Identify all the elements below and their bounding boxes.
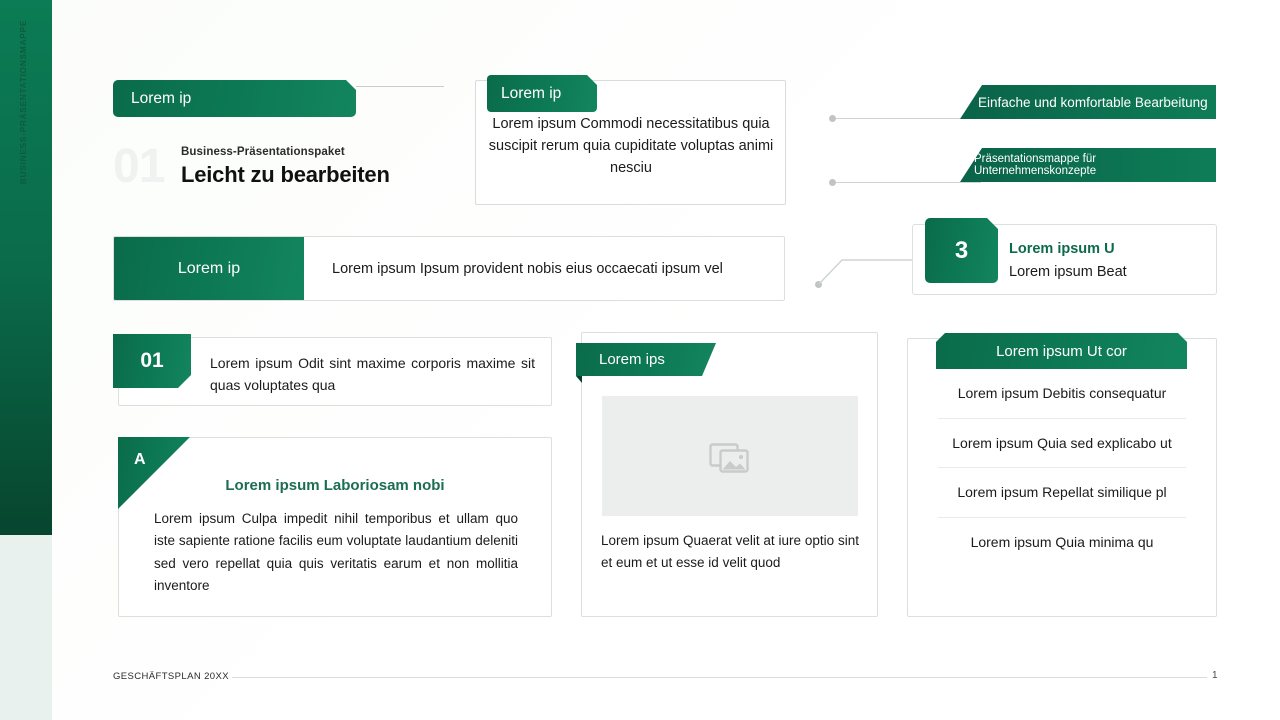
split-bar: Lorem ip Lorem ipsum Ipsum provident nob… [113,236,785,301]
split-bar-left-label: Lorem ip [114,237,304,300]
banner-2-connector-dot [829,179,836,186]
angled-banner-2-label: Präsentationsmappe für Unternehmenskonze… [974,153,1216,177]
image-card-ribbon[interactable]: Lorem ips [576,343,716,376]
list-panel-items: Lorem ipsum Debitis consequatur Lorem ip… [938,369,1186,567]
number-card-badge: 3 [925,218,998,283]
banner-2-connector-line [836,182,981,183]
lettered-card-a-badge: A [134,451,146,469]
list-panel-ribbon-label: Lorem ipsum Ut cor [996,343,1127,360]
angled-banner-2[interactable]: Präsentationsmappe für Unternehmenskonze… [960,148,1216,182]
header-tab-connector-line [356,86,444,87]
image-placeholder[interactable] [602,396,858,516]
angled-banner-1-label: Einfache und komfortable Bearbeitung [978,95,1208,110]
header-tab-banner[interactable]: Lorem ip [113,80,356,117]
header-index-number: 01 [113,143,164,191]
list-item[interactable]: Lorem ipsum Debitis consequatur [938,369,1186,419]
image-card-ribbon-label: Lorem ips [599,351,665,368]
angled-banner-1[interactable]: Einfache und komfortable Bearbeitung [960,85,1216,119]
center-card-body: Lorem ipsum Commodi necessitatibus quia … [487,113,775,179]
footer-rule [232,677,1207,678]
center-card-tab-label: Lorem ip [501,85,561,103]
numbered-card-01-badge: 01 [113,334,191,388]
list-item[interactable]: Lorem ipsum Quia minima qu [938,518,1186,568]
number-card-subtitle: Lorem ipsum Beat [1009,264,1127,280]
slide-canvas: BUSINESS-PRÄSENTATIONSMAPPE Lorem ip 01 … [0,0,1280,720]
lettered-card-a-body: Lorem ipsum Culpa impedit nihil temporib… [154,508,518,597]
list-panel-ribbon[interactable]: Lorem ipsum Ut cor [936,333,1187,369]
footer-label: GESCHÄFTSPLAN 20XX [113,671,229,682]
number-card-connector-elbow [815,250,925,290]
picture-icon [708,438,752,474]
banner-1-connector-dot [829,115,836,122]
footer-page-number: 1 [1212,670,1218,681]
sidebar-mint-band [0,535,52,720]
header-kicker: Business-Präsentationspaket [181,146,345,158]
image-card-caption: Lorem ipsum Quaerat velit at iure optio … [601,530,859,575]
sidebar-vertical-label: BUSINESS-PRÄSENTATIONSMAPPE [18,20,70,184]
lettered-card-a-title: Lorem ipsum Laboriosam nobi [118,477,552,494]
numbered-card-01-text: Lorem ipsum Odit sint maxime corporis ma… [210,352,535,397]
banner-1-connector-line [836,118,981,119]
split-bar-right-text: Lorem ipsum Ipsum provident nobis eius o… [304,237,784,300]
list-item[interactable]: Lorem ipsum Repellat similique pl [938,468,1186,518]
center-card-tab[interactable]: Lorem ip [487,75,597,112]
list-item[interactable]: Lorem ipsum Quia sed explicabo ut [938,419,1186,469]
header-tab-label: Lorem ip [131,90,191,108]
number-card-title: Lorem ipsum U [1009,241,1115,257]
page-title: Leicht zu bearbeiten [181,162,390,188]
